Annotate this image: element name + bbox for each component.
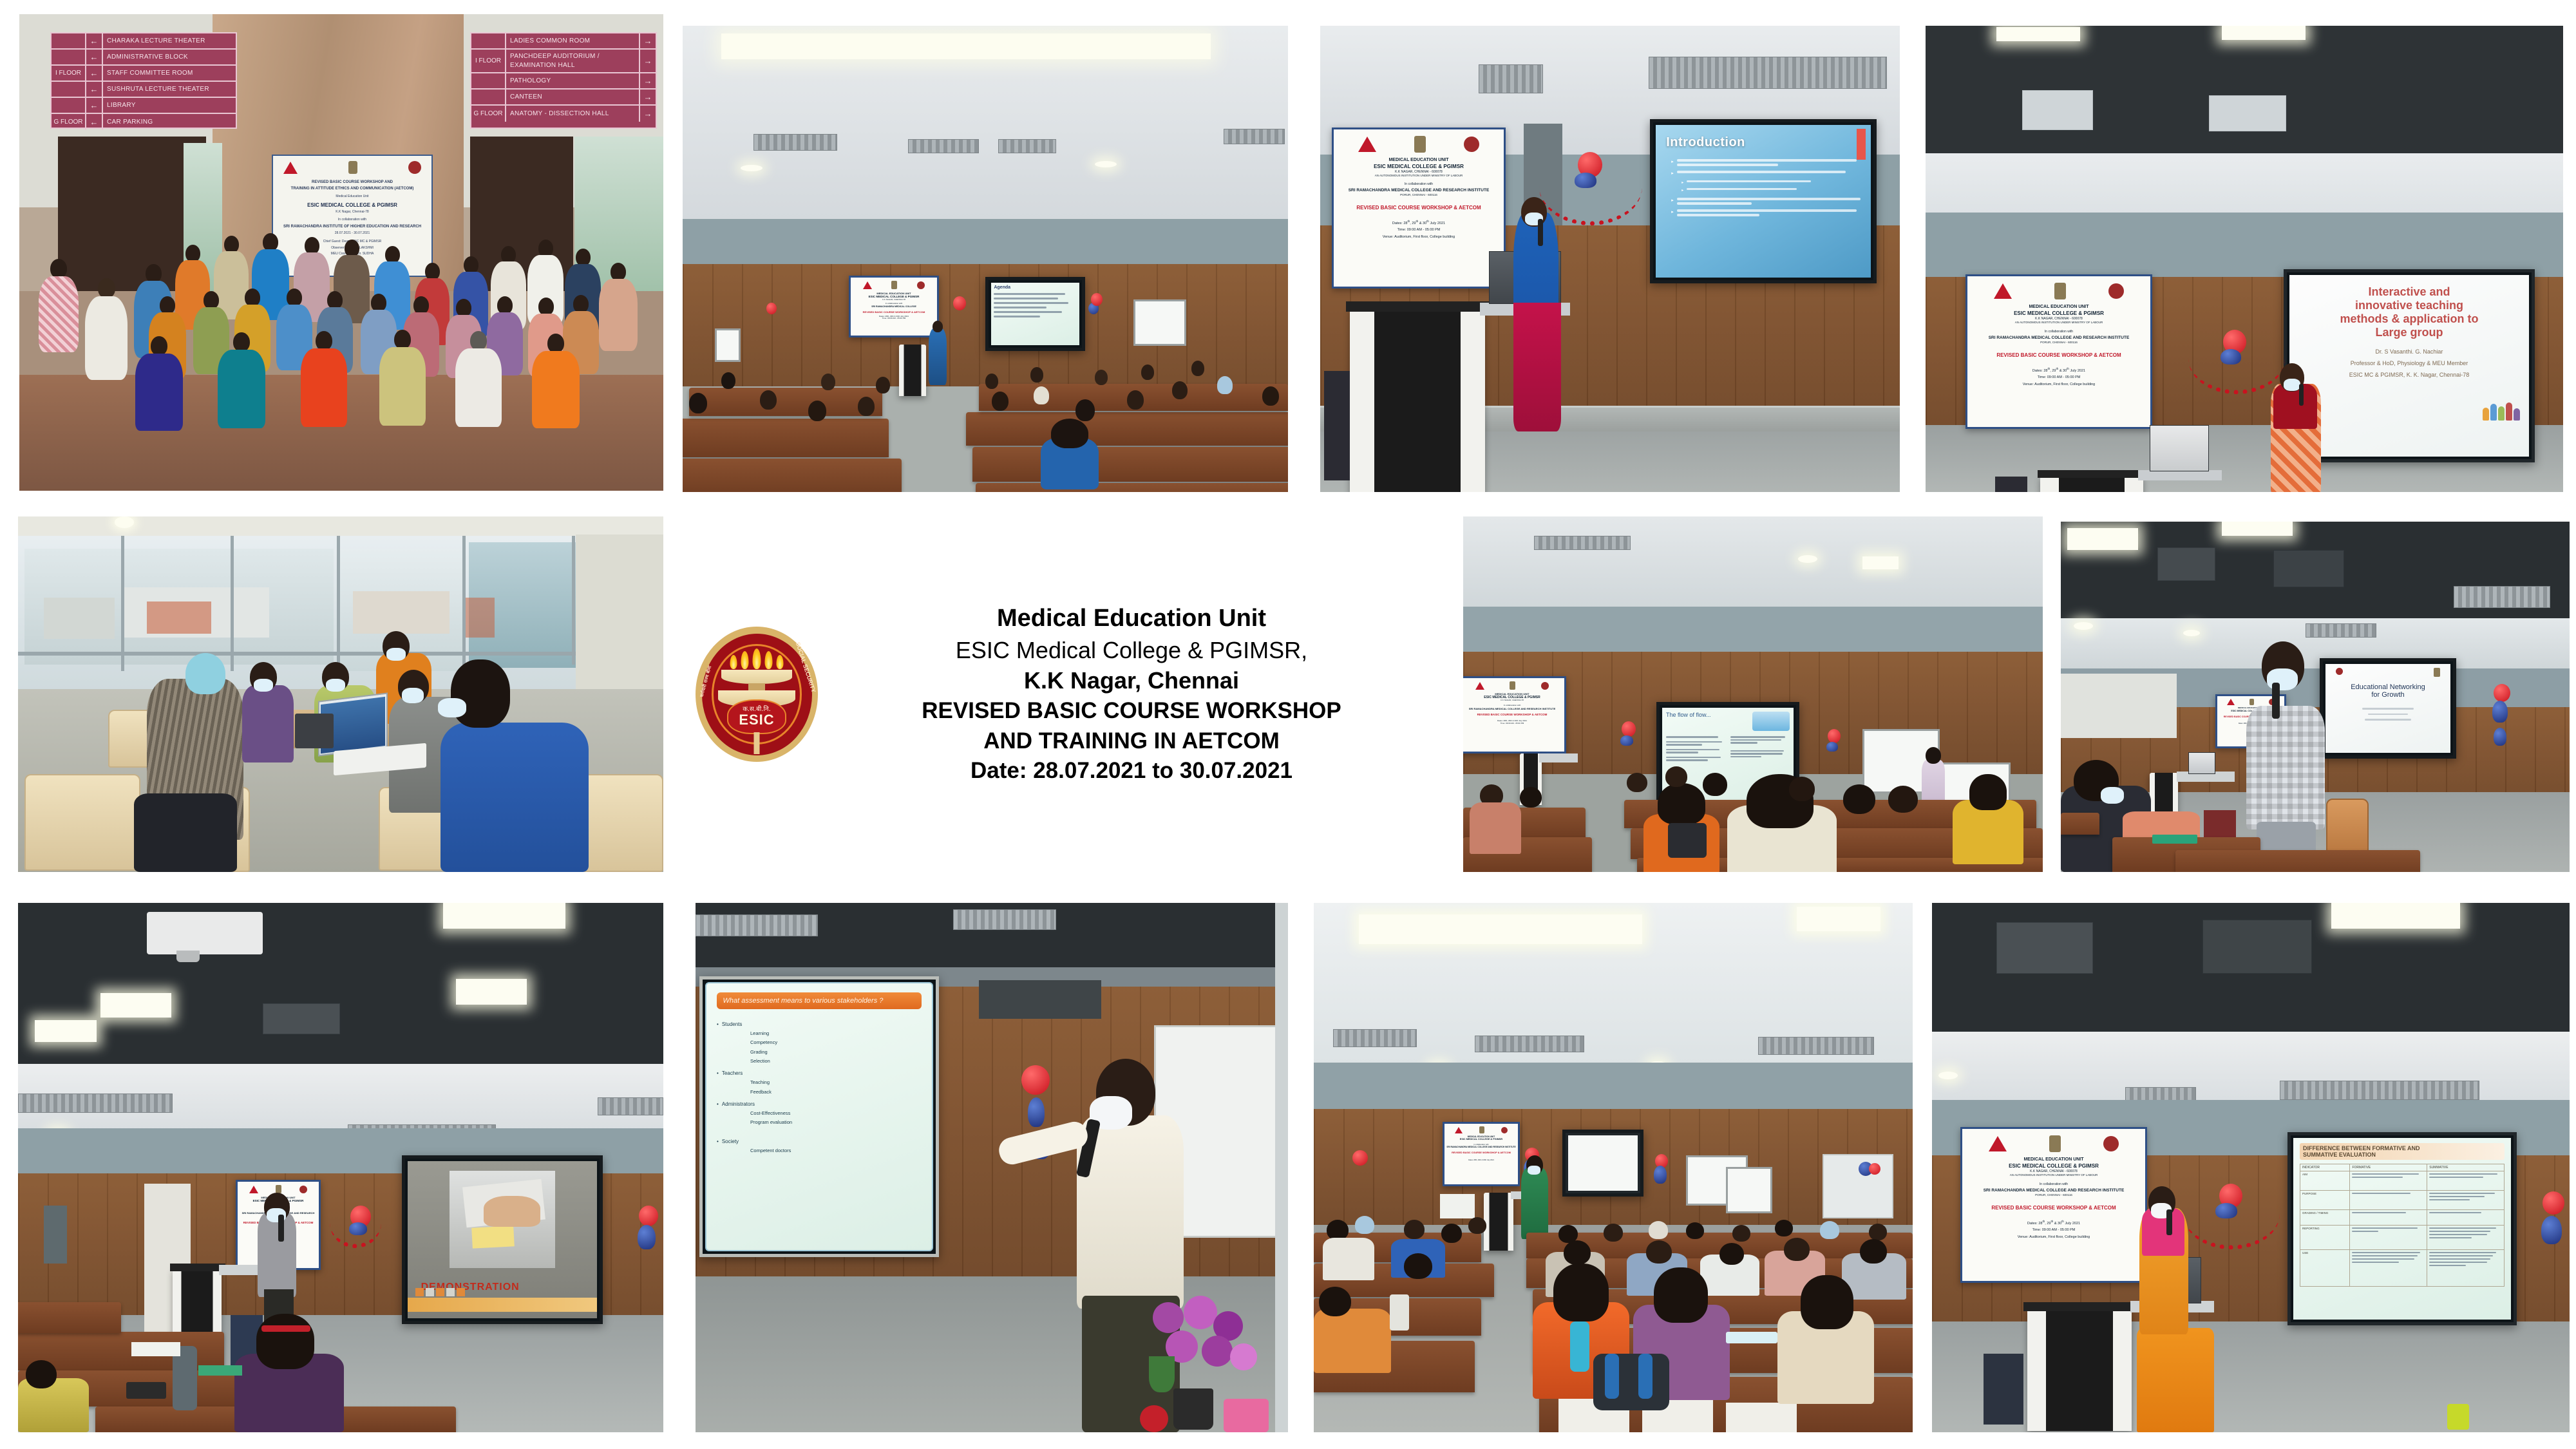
lobby-sign-right: LADIES COMMON ROOM → I FLOOR PANCHDEEP A… bbox=[470, 32, 657, 129]
photo-lecture-hall-participants: MEDICAL EDUCATION UNIT ESIC MEDICAL COLL… bbox=[1314, 903, 1913, 1432]
center-title-text: Medical Education Unit ESIC Medical Coll… bbox=[833, 602, 1430, 786]
slide-group-item: Program evaluation bbox=[750, 1118, 922, 1127]
table-row-label: GRADING / TIMING bbox=[2300, 1210, 2350, 1225]
slide-group-item: Grading bbox=[750, 1048, 922, 1057]
photo-speaker-educational-networking: MEDICAL EDUCATION UNIT ESIC MEDICAL COLL… bbox=[2061, 522, 2570, 872]
photo-small-group-discussion bbox=[18, 516, 663, 872]
slide-title-line-3: methods & application to bbox=[2340, 312, 2478, 326]
table-header-cell: FORMATIVE bbox=[2350, 1164, 2427, 1171]
slide-title-line-2: for Growth bbox=[2371, 691, 2404, 699]
photo-audience-back-view: MEDICAL EDUCATION UNIT ESIC MEDICAL COLL… bbox=[1463, 516, 2043, 872]
photo-speaker-large-group-slide: MEDICAL EDUCATION UNIT ESIC MEDICAL COLL… bbox=[1926, 26, 2563, 492]
slide-title: What assessment means to various stakeho… bbox=[717, 992, 922, 1009]
title-line-6: Date: 28.07.2021 to 30.07.2021 bbox=[833, 756, 1430, 786]
slide-screen-networking: Educational Networking for Growth bbox=[2320, 658, 2456, 759]
photo-speaker-introduction-slide: MEDICAL EDUCATION UNIT ESIC MEDICAL COLL… bbox=[1320, 26, 1900, 492]
title-line-2: ESIC Medical College & PGIMSR, bbox=[833, 635, 1430, 666]
photo-demonstration-session: MEDICAL EDUCATION UNIT ESIC MEDICAL COLL… bbox=[18, 903, 663, 1432]
slide-title-line-1: Educational Networking bbox=[2351, 683, 2425, 691]
slide-group-item: Feedback bbox=[750, 1088, 922, 1097]
table-header-cell: SUMMATIVE bbox=[2427, 1164, 2504, 1171]
slide-group-item: Learning bbox=[750, 1029, 922, 1038]
slide-group-item: Competent doctors bbox=[750, 1146, 922, 1155]
slide-group-item: Selection bbox=[750, 1057, 922, 1066]
slide-group-item: Cost-Effectiveness bbox=[750, 1109, 922, 1118]
table-row-label: REPORTING bbox=[2300, 1226, 2350, 1249]
title-line-4: REVISED BASIC COURSE WORKSHOP bbox=[833, 696, 1430, 726]
slide-screen-large-group: Interactive and innovative teaching meth… bbox=[2284, 269, 2535, 462]
slide-title: Introduction bbox=[1666, 135, 1864, 150]
slide-group-label: Society bbox=[722, 1137, 739, 1146]
slide-screen-formative-summative: DIFFERENCE BETWEEN FORMATIVE AND SUMMATI… bbox=[2287, 1132, 2517, 1325]
slide-title-line-2: innovative teaching bbox=[2355, 299, 2463, 312]
esic-acronym: ESIC bbox=[739, 713, 774, 727]
photo-speaker-formative-summative: MEDICAL EDUCATION UNIT ESIC MEDICAL COLL… bbox=[1932, 903, 2570, 1432]
slide-group-item: Competency bbox=[750, 1038, 922, 1047]
podium bbox=[1350, 308, 1485, 492]
photo-collage-root: ← CHARAKA LECTURE THEATER ← ADMINISTRATI… bbox=[0, 0, 2576, 1449]
slide-subtitle-3: ESIC MC & PGIMSR, K. K. Nagar, Chennai-7… bbox=[2349, 372, 2470, 378]
slide-title-line-1: Interactive and bbox=[2368, 285, 2450, 299]
table-row-label: PURPOSE bbox=[2300, 1191, 2350, 1209]
table-row-label: AIM bbox=[2300, 1171, 2350, 1190]
slide-screen-assessment: What assessment means to various stakeho… bbox=[699, 976, 939, 1257]
slide-title-line-4: Large group bbox=[2375, 326, 2443, 339]
title-line-1: Medical Education Unit bbox=[833, 602, 1430, 635]
table-header-cell: INDICATOR bbox=[2300, 1164, 2350, 1171]
slide-group-item: Teaching bbox=[750, 1078, 922, 1087]
slide-title: The flow of flow... bbox=[1666, 712, 1752, 718]
esic-logo: क.स.बी.नि. ESIC कर्मचारी राज्य बीमा SOCI… bbox=[696, 627, 818, 762]
title-line-3: K.K Nagar, Chennai bbox=[833, 665, 1430, 696]
slide-subtitle-2: Professor & HoD, Physiology & MEU Member bbox=[2351, 360, 2468, 366]
slide-title-line-2: SUMMATIVE EVALUATION bbox=[2303, 1151, 2501, 1158]
table-row-label: USE bbox=[2300, 1250, 2350, 1286]
slide-title-line-1: DIFFERENCE BETWEEN FORMATIVE AND bbox=[2303, 1145, 2501, 1151]
photo-lecture-hall-wide: MEDICAL EDUCATION UNIT ESIC MEDICAL COLL… bbox=[683, 26, 1288, 492]
slide-screen-demonstration: DEMONSTRATION bbox=[402, 1155, 603, 1324]
center-title-panel: क.स.बी.नि. ESIC कर्मचारी राज्य बीमा SOCI… bbox=[683, 516, 1443, 872]
lobby-sign-left: ← CHARAKA LECTURE THEATER ← ADMINISTRATI… bbox=[50, 32, 237, 129]
title-line-5: AND TRAINING IN AETCOM bbox=[833, 726, 1430, 757]
photo-speaker-assessment-stakeholders: What assessment means to various stakeho… bbox=[696, 903, 1288, 1432]
slide-subtitle-1: Dr. S Vasanthi. G. Nachiar bbox=[2376, 348, 2443, 355]
photo-group-photo-lobby: ← CHARAKA LECTURE THEATER ← ADMINISTRATI… bbox=[19, 14, 663, 491]
slide-group-label: Students bbox=[722, 1019, 743, 1029]
slide-screen-introduction: Introduction ▸ ▸ ▸ ▸ ▸ ▸ bbox=[1650, 119, 1877, 283]
slide-group-label: Administrators bbox=[722, 1099, 755, 1109]
slide-group-label: Teachers bbox=[722, 1068, 743, 1078]
